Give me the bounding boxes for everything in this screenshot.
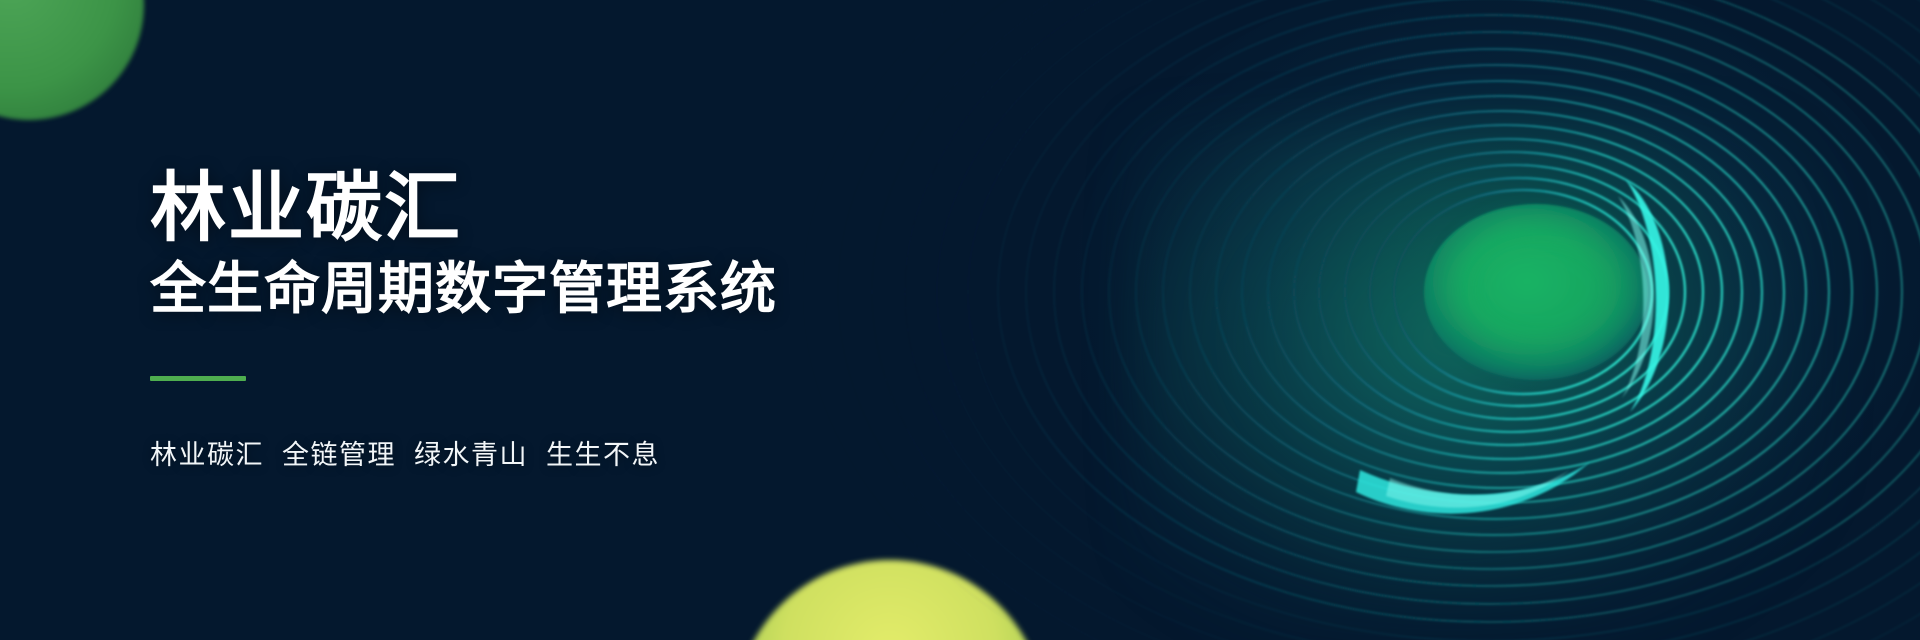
hero-text-block: 林业碳汇 全生命周期数字管理系统 林业碳汇 全链管理 绿水青山 生生不息	[150, 0, 777, 640]
green-circle-decoration	[0, 0, 144, 120]
vortex-artwork	[800, 0, 1920, 640]
page-subtitle: 全生命周期数字管理系统	[150, 258, 777, 321]
hero-banner: 林业碳汇 全生命周期数字管理系统 林业碳汇 全链管理 绿水青山 生生不息	[0, 0, 1920, 640]
concentric-rings-icon	[800, 0, 1920, 640]
accent-divider	[150, 376, 246, 381]
page-title: 林业碳汇	[150, 168, 777, 250]
tagline: 林业碳汇 全链管理 绿水青山 生生不息	[150, 433, 777, 472]
